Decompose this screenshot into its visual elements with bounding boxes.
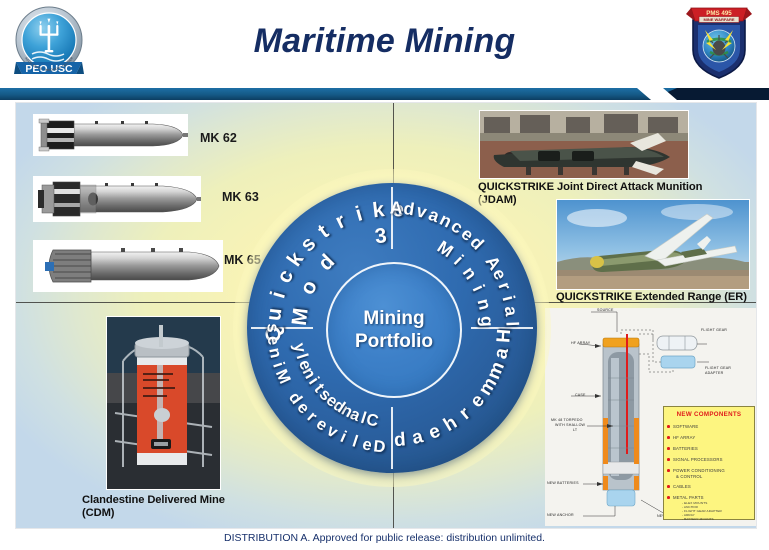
legend-title: NEW COMPONENTS — [664, 411, 754, 418]
page-title: Maritime Mining — [0, 22, 769, 61]
distribution-statement: DISTRIBUTION A. Approved for public rele… — [0, 532, 769, 544]
pms-495-banner-text: PMS 495 — [706, 10, 732, 17]
callout-flight-gear-adapter-line2: ADAPTER — [705, 371, 723, 375]
legend-bullet — [667, 447, 670, 450]
wheel-label-char: e — [426, 420, 444, 444]
callout-flight-gear-adapter-line1: FLIGHT GEAR — [705, 366, 731, 370]
legend-bullet — [667, 496, 670, 499]
legend-item-power-control: & CONTROL — [676, 474, 702, 479]
photo-quickstrike-jdam — [479, 110, 689, 179]
legend-bullet — [667, 485, 670, 488]
callout-case: CASE — [575, 393, 586, 397]
legend-bullet — [667, 458, 670, 461]
wheel-hub-line1: Mining — [363, 307, 424, 330]
legend-item-metal-parts: METAL PARTS — [673, 495, 704, 500]
mine-image-mk65 — [33, 240, 223, 292]
legend-item-batteries: BATTERIES — [673, 446, 698, 451]
legend-item-signal-processors: SIGNAL PROCESSORS — [673, 457, 723, 462]
pms-495-shield-icon: PMS 495 MINE WARFARE — [683, 2, 755, 82]
wheel-label-char: H — [493, 328, 516, 343]
hammerhead-technical-diagram: SOURCE HF ARRAY CASE MK 48 TORPEDO WITH … — [545, 308, 756, 526]
callout-mk48-torpedo: MK 48 TORPEDO — [551, 418, 583, 422]
wheel-label-char: r — [455, 403, 475, 425]
pms-495-shield-logo: PMS 495 MINE WARFARE — [683, 2, 755, 82]
photo-clandestine-delivered-mine — [106, 316, 221, 490]
legend-item-software: SOFTWARE — [673, 424, 698, 429]
mk63-silhouette-icon — [33, 176, 201, 222]
wheel-hub-line2: Portfolio — [355, 330, 433, 353]
wheel-label-char: a — [490, 346, 514, 361]
callout-with-shallow: WITH SHALLOW — [555, 423, 585, 427]
photo-quickstrike-er — [556, 199, 750, 290]
callout-lt: LT — [573, 428, 577, 432]
legend-bullet — [667, 469, 670, 472]
callout-new-anchor: NEW ANCHOR — [547, 513, 574, 517]
callout-source: SOURCE — [597, 308, 614, 312]
photo-caption-cdm-line2: (CDM) — [82, 507, 114, 520]
legend-item-power-conditioning: POWER CONDITIONING — [673, 468, 725, 473]
legend-sub-battery-mounts: - BATTERY MOUNTS — [682, 517, 714, 521]
slide-header: PEO USC ACCELERATE · INNOVATE · DELIVER … — [0, 0, 769, 88]
legend-item-cables: CABLES — [673, 484, 691, 489]
mk65-silhouette-icon — [33, 240, 223, 292]
callout-new-batteries: NEW BATTERIES — [547, 481, 579, 485]
mk62-silhouette-icon — [33, 114, 188, 156]
pms-495-subbanner-text: MINE WARFARE — [703, 17, 734, 22]
legend-item-hf-array: HF ARRAY — [673, 435, 695, 440]
callout-hf-array: HF ARRAY — [571, 341, 590, 345]
wheel-label-char: h — [440, 412, 461, 437]
wheel-label-char: a — [410, 426, 425, 450]
photo-caption-er-line1: QUICKSTRIKE Extended Range (ER) — [556, 291, 747, 304]
mine-label-mk62: MK 62 — [200, 131, 237, 145]
cdm-photo-graphic — [107, 317, 220, 489]
legend-bullet — [667, 425, 670, 428]
wheel-hub: Mining Portfolio — [326, 262, 462, 398]
photo-caption-cdm-line1: Clandestine Delivered Mine — [82, 494, 225, 507]
mine-image-mk62 — [33, 114, 188, 156]
jdam-photo-graphic — [480, 111, 688, 178]
mining-portfolio-wheel: QuickstrikeMod 3 Advanced AerialMining C… — [247, 183, 537, 473]
legend-bullet — [667, 436, 670, 439]
wheel-label-char: d — [393, 429, 406, 452]
new-components-legend: NEW COMPONENTS SOFTWARE HF ARRAY BATTERI… — [663, 406, 755, 520]
mine-image-mk63 — [33, 176, 201, 222]
er-photo-graphic — [557, 200, 749, 289]
callout-flight-gear: FLIGHT GEAR — [701, 328, 727, 332]
